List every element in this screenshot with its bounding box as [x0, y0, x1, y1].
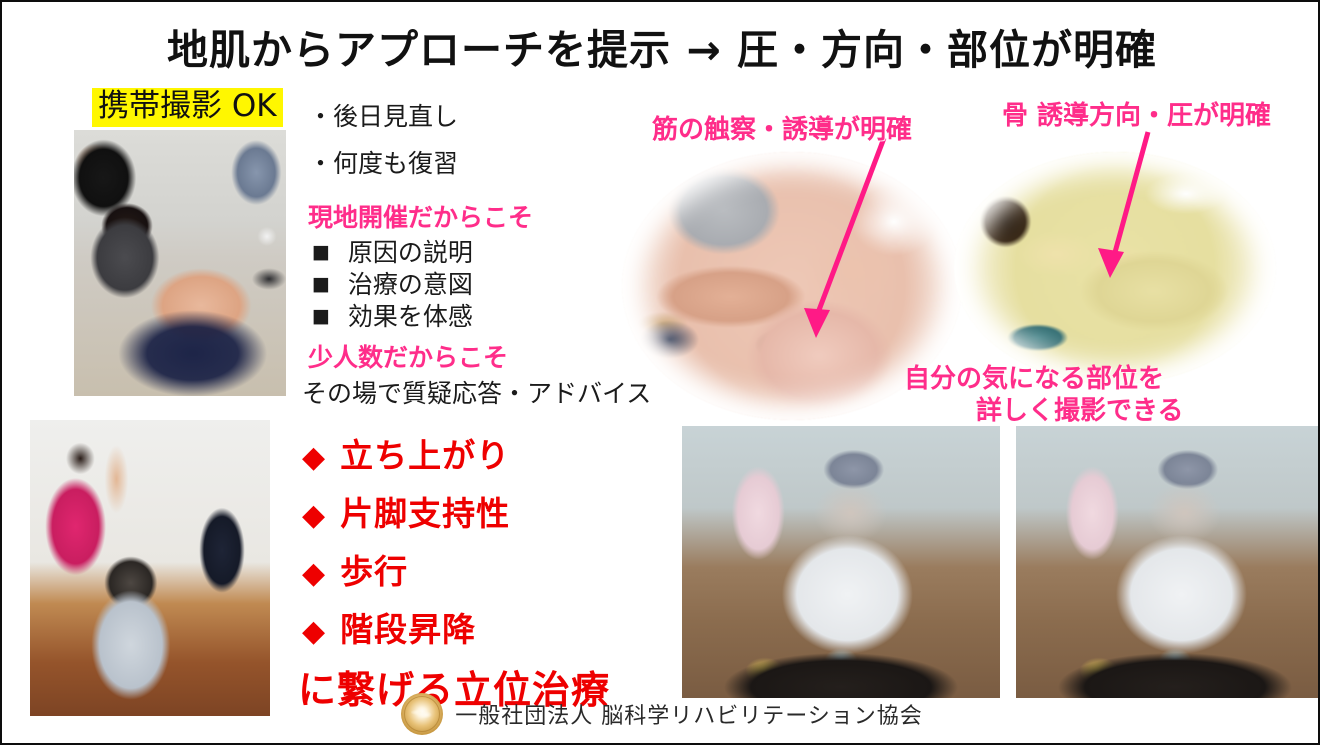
red-item-stair-climbing: ◆階段昇降	[302, 603, 476, 651]
red-item-single-leg-support: ◆片脚支持性	[302, 487, 510, 535]
red-item-stair-climbing-label: 階段昇降	[340, 610, 476, 649]
onsite-item-effect-label: 効果を体感	[348, 302, 473, 331]
arrow-to-bone-point	[1092, 128, 1172, 290]
brain-rehabilitation-association-logo-icon	[401, 693, 443, 735]
photo-clinic-floor	[74, 130, 286, 396]
onsite-item-effect: ■ 効果を体感	[312, 297, 473, 333]
callout-self-record-line2: 詳しく撮影できる	[976, 390, 1183, 427]
red-item-single-leg-support-label: 片脚支持性	[340, 494, 510, 533]
bullet-review-later: ・後日見直し	[308, 97, 458, 133]
square-bullet-icon: ■	[312, 273, 330, 295]
photo-meal-activity-2	[1016, 426, 1320, 698]
mobile-recording-ok-badge: 携帯撮影 OK	[92, 88, 283, 127]
slide-title: 地肌からアプローチを提示 → 圧・方向・部位が明確	[2, 16, 1320, 76]
diamond-bullet-icon: ◆	[302, 556, 326, 591]
callout-bone-guidance: 骨 誘導方向・圧が明確	[1002, 95, 1271, 132]
photo-standing-treatment	[30, 420, 270, 716]
footer-organization-name: 一般社団法人 脳科学リハビリテーション協会	[455, 698, 923, 730]
diamond-bullet-icon: ◆	[302, 614, 326, 649]
onsite-item-intent: ■ 治療の意図	[312, 265, 473, 301]
small-group-detail: その場で質疑応答・アドバイス	[302, 374, 651, 410]
diamond-bullet-icon: ◆	[302, 498, 326, 533]
photo-meal-activity-1	[682, 426, 1000, 698]
onsite-item-intent-label: 治療の意図	[348, 270, 473, 299]
callout-muscle-palpation: 筋の触察・誘導が明確	[652, 109, 912, 146]
onsite-item-cause-label: 原因の説明	[348, 238, 473, 267]
footer: 一般社団法人 脳科学リハビリテーション協会	[2, 693, 1320, 735]
red-item-standing-up-label: 立ち上がり	[340, 436, 510, 475]
square-bullet-icon: ■	[312, 305, 330, 327]
diamond-bullet-icon: ◆	[302, 440, 326, 475]
onsite-item-cause: ■ 原因の説明	[312, 233, 473, 269]
arrow-to-muscle-point	[792, 132, 902, 347]
red-item-gait: ◆歩行	[302, 545, 408, 593]
red-item-standing-up: ◆立ち上がり	[302, 429, 510, 477]
bullet-repeat-study: ・何度も復習	[308, 144, 458, 180]
square-bullet-icon: ■	[312, 241, 330, 263]
red-item-gait-label: 歩行	[340, 552, 408, 591]
onsite-heading: 現地開催だからこそ	[308, 198, 533, 234]
slide-canvas: 地肌からアプローチを提示 → 圧・方向・部位が明確 携帯撮影 OK ・後日見直し…	[0, 0, 1320, 745]
small-group-heading: 少人数だからこそ	[308, 338, 508, 374]
